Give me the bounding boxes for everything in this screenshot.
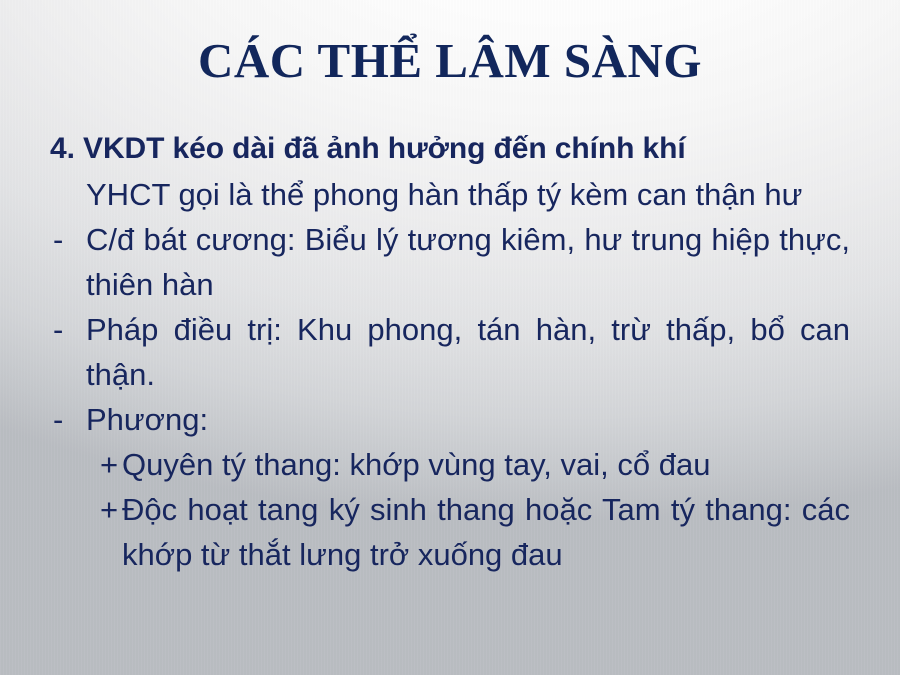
bullet-marker-dash: - bbox=[53, 217, 77, 262]
content-subheading: YHCT gọi là thể phong hàn thấp tý kèm ca… bbox=[86, 172, 850, 217]
sub-list-item-text: Độc hoạt tang ký sinh thang hoặc Tam tý … bbox=[122, 487, 850, 577]
sub-list-item-text: Quyên tý thang: khớp vùng tay, vai, cổ đ… bbox=[122, 442, 850, 487]
page-title: CÁC THỂ LÂM SÀNG bbox=[0, 36, 900, 86]
bullet-marker-dash: - bbox=[53, 397, 77, 442]
slide-canvas: CÁC THỂ LÂM SÀNG 4. VKDT kéo dài đã ảnh … bbox=[0, 0, 900, 675]
list-item: - C/đ bát cương: Biểu lý tương kiêm, hư … bbox=[48, 217, 850, 307]
list-item-text: Phương: bbox=[86, 397, 850, 442]
bullet-marker-dash: - bbox=[53, 307, 77, 352]
content-heading: 4. VKDT kéo dài đã ảnh hưởng đến chính k… bbox=[50, 126, 850, 172]
list-item-text: C/đ bát cương: Biểu lý tương kiêm, hư tr… bbox=[86, 217, 850, 307]
sub-list-item: + Độc hoạt tang ký sinh thang hoặc Tam t… bbox=[48, 487, 850, 577]
list-item-text: Pháp điều trị: Khu phong, tán hàn, trừ t… bbox=[86, 307, 850, 397]
slide-body: 4. VKDT kéo dài đã ảnh hưởng đến chính k… bbox=[48, 126, 850, 577]
bullet-marker-plus: + bbox=[100, 487, 124, 532]
bullet-marker-plus: + bbox=[100, 442, 124, 487]
list-item: - Pháp điều trị: Khu phong, tán hàn, trừ… bbox=[48, 307, 850, 397]
sub-list-item: + Quyên tý thang: khớp vùng tay, vai, cổ… bbox=[48, 442, 850, 487]
list-item: - Phương: bbox=[48, 397, 850, 442]
